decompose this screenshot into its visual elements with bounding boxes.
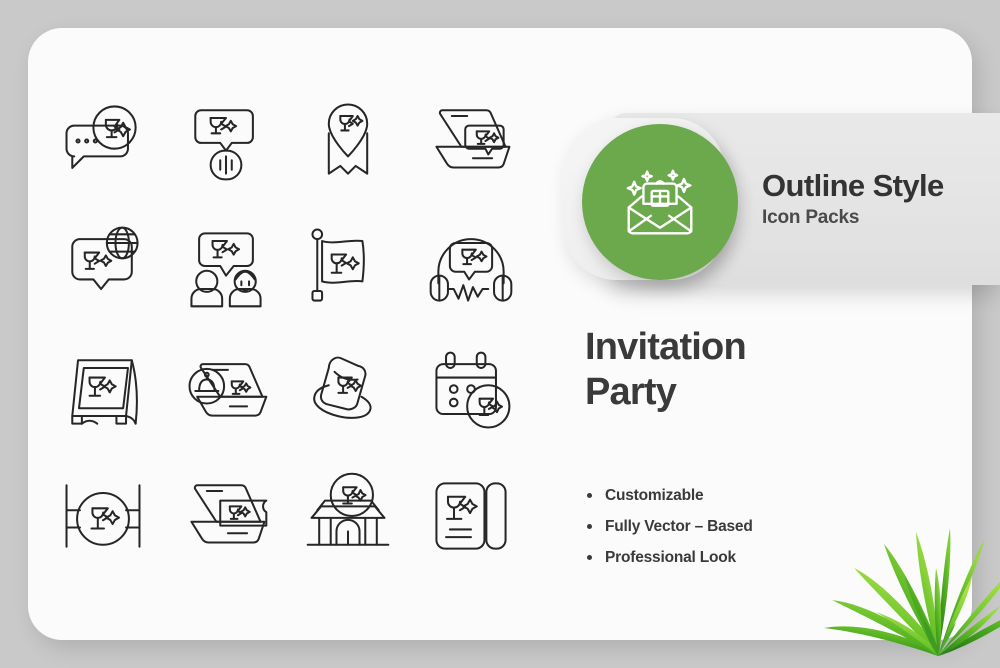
invitation-card-icon [423,468,519,564]
banner-subtitle: Icon Packs [762,207,944,229]
icon-people-invitation[interactable] [165,203,288,328]
global-invitation-icon [55,218,151,314]
badge-circle [582,124,738,280]
icon-calendar-invitation[interactable] [410,328,533,453]
feature-item: Professional Look [585,542,753,573]
icon-voice-message-invitation[interactable] [165,78,288,203]
mobile-ticket-invitation-icon [178,468,274,564]
icon-headphone-invitation[interactable] [410,203,533,328]
chat-bubble-invitation-icon [55,93,151,189]
icon-venue-building-invitation[interactable] [287,453,410,578]
page-title: Invitation Party [585,325,746,415]
hat-invitation-icon [300,343,396,439]
icon-standing-banner-invitation[interactable] [42,328,165,453]
gateway-invitation-icon [55,468,151,564]
open-envelope-gift-icon [614,156,706,248]
banner-title: Outline Style [762,169,944,203]
people-invitation-icon [178,218,274,314]
icon-laptop-invitation[interactable] [410,78,533,203]
laptop-invitation-icon [423,93,519,189]
venue-building-invitation-icon [300,468,396,564]
headphone-invitation-icon [423,218,519,314]
feature-item: Customizable [585,480,753,511]
icon-mobile-bell-invitation[interactable] [165,328,288,453]
icon-flag-invitation[interactable] [287,203,410,328]
icon-global-invitation[interactable] [42,203,165,328]
standing-banner-invitation-icon [55,343,151,439]
feature-item: Fully Vector – Based [585,511,753,542]
calendar-invitation-icon [423,343,519,439]
feature-list: Customizable Fully Vector – Based Profes… [585,480,753,573]
icon-location-pin-invitation[interactable] [287,78,410,203]
icon-mobile-ticket-invitation[interactable] [165,453,288,578]
voice-message-invitation-icon [178,93,274,189]
icon-hat-invitation[interactable] [287,328,410,453]
mobile-bell-invitation-icon [178,343,274,439]
icon-invitation-card[interactable] [410,453,533,578]
location-pin-invitation-icon [300,93,396,189]
flag-invitation-icon [300,218,396,314]
icon-chat-bubble-invitation[interactable] [42,78,165,203]
icon-gateway-invitation[interactable] [42,453,165,578]
banner-text-group: Outline Style Icon Packs [762,169,944,229]
icon-grid [42,78,532,578]
